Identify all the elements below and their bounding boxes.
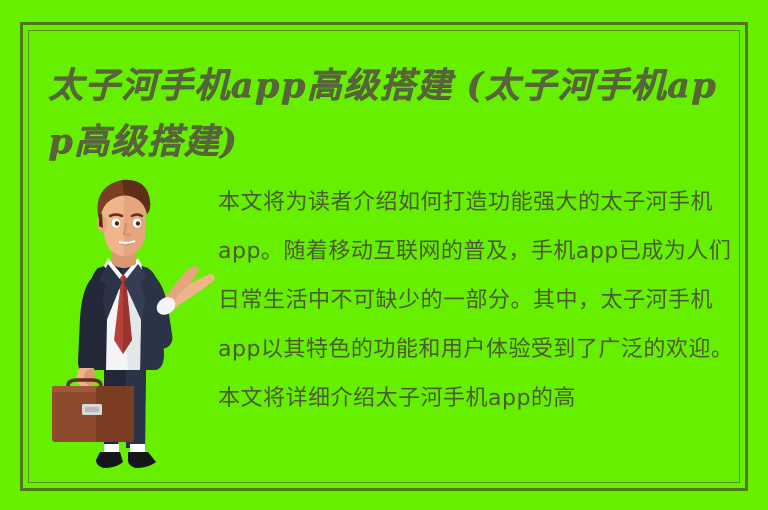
body-paragraph: 本文将为读者介绍如何打造功能强大的太子河手机app。随着移动互联网的普及，手机a…	[218, 178, 748, 488]
businessman-illustration	[44, 172, 222, 474]
poster-canvas: 太子河手机app高级搭建 (太子河手机app高级搭建) 本文将为读者介绍如何打造…	[0, 0, 768, 510]
page-title: 太子河手机app高级搭建 (太子河手机app高级搭建)	[48, 58, 724, 170]
